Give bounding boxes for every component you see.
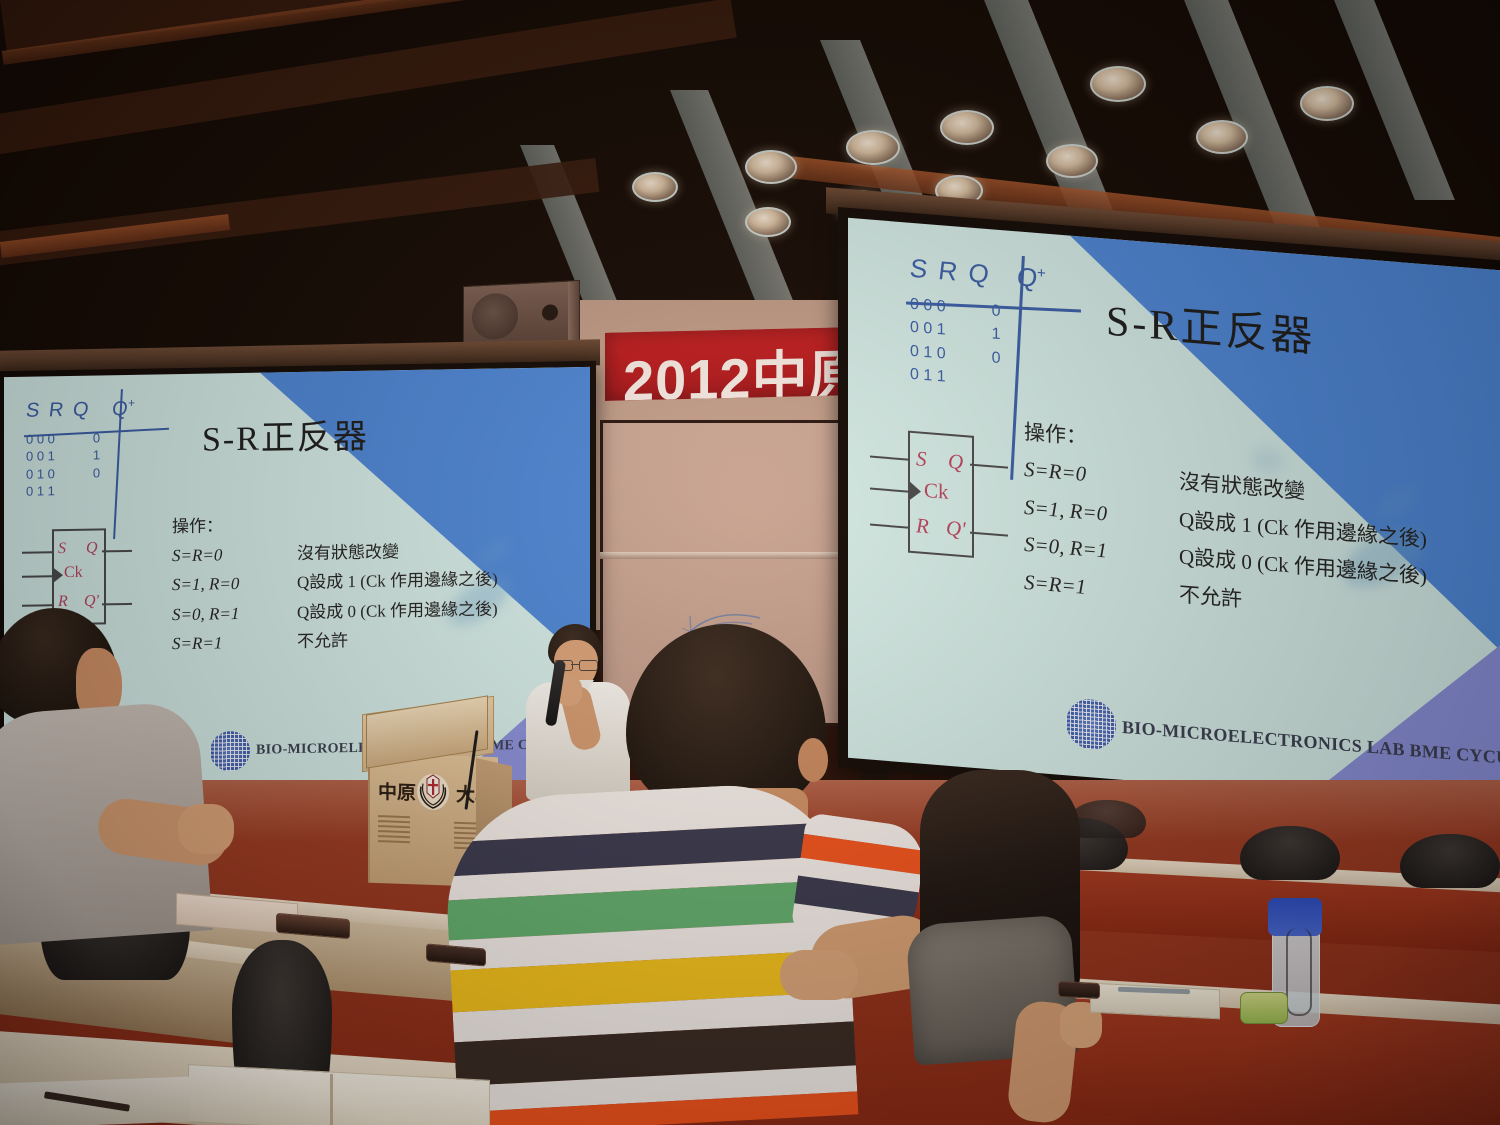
hand-row-in: 0 1 1: [26, 484, 55, 500]
ops-result: 不允許: [1179, 576, 1242, 618]
flipflop-label-q: Q: [948, 449, 963, 475]
event-banner: 2012中原: [605, 327, 855, 401]
downlight: [1046, 144, 1098, 178]
chair: [1400, 834, 1500, 888]
ops-condition: S=R=0: [172, 539, 297, 570]
podium-text-left: 中原: [378, 777, 416, 805]
handwriting-header: S R Q: [25, 399, 92, 421]
ops-result: Q設成 1 (Ck 作用邊緣之後): [297, 565, 498, 598]
flipflop-wire-ck: [870, 488, 908, 493]
flipflop-wire-r: [870, 524, 908, 529]
student-hand: [178, 804, 234, 854]
hand-row-out: 0: [992, 349, 1001, 367]
flipflop-wire-qn: [970, 532, 1008, 537]
hand-row-in: 0 1 0: [910, 342, 946, 362]
hand-row-in: 0 0 1: [910, 319, 946, 339]
handwriting-header-out: Q: [1015, 263, 1039, 292]
downlight: [1196, 120, 1248, 154]
downlight: [1090, 66, 1146, 102]
flipflop-label-ck: Ck: [64, 564, 83, 582]
hand-row-in: 0 1 1: [910, 366, 946, 386]
flipflop-wire-s: [22, 551, 52, 554]
flipflop-wire-ck: [22, 575, 52, 578]
event-banner-text: 2012中原: [623, 331, 855, 401]
slide-operations: 操作： S=R=0沒有狀態改變 S=1, R=0Q設成 1 (Ck 作用邊緣之後…: [1024, 414, 1427, 633]
chair: [1240, 826, 1340, 880]
downlight: [745, 207, 791, 237]
handwriting-header-sup: +: [128, 396, 135, 410]
handwriting-header: S R Q: [908, 255, 992, 289]
lecture-hall-photo: 2012中原 S R QQ+ 0 0 00 0 0 11 0 1 00 0 1 …: [0, 0, 1500, 1125]
handwritten-truth-table: S R QQ+ 0 0 00 0 0 11 0 1 00 0 1 1: [910, 255, 1046, 397]
flipflop-wire-s: [870, 456, 908, 461]
ops-condition: S=1, R=0: [172, 568, 297, 599]
speaker-cone-icon: [472, 292, 518, 340]
clock-triangle-icon: [910, 482, 921, 501]
downlight: [745, 150, 797, 184]
student-right-longhair: [900, 770, 1130, 1125]
clock-triangle-icon: [54, 568, 63, 582]
hand-row-out: 1: [93, 448, 100, 463]
phone-right-desk[interactable]: [1058, 981, 1100, 999]
student-ear: [798, 738, 828, 782]
hand-row-out: 1: [992, 326, 1001, 344]
flipflop-label-q: Q: [86, 539, 98, 557]
flipflop-wire-qn: [102, 603, 132, 606]
whiteboard-tray: [600, 552, 870, 559]
downlight: [940, 110, 994, 145]
ops-result: 不允許: [297, 626, 348, 656]
flipflop-wire-q: [102, 550, 132, 553]
globe-logo-icon: [1066, 697, 1116, 751]
bottle-strap: [1286, 928, 1312, 1016]
student-hand: [780, 950, 858, 1000]
flipflop-label-r: R: [916, 513, 929, 539]
pencil-pouch[interactable]: [1240, 992, 1288, 1024]
flipflop-label-ck: Ck: [924, 478, 949, 505]
podium-vent-left: [378, 815, 410, 846]
flipflop-label-s: S: [58, 540, 66, 558]
downlight: [846, 130, 900, 165]
hand-row-in: 0 1 0: [26, 466, 55, 482]
speaker-bracket: [568, 281, 579, 344]
speaker-tweeter-icon: [542, 304, 558, 321]
flipflop-label-s: S: [916, 446, 927, 472]
slide-title: S-R正反器: [202, 409, 369, 461]
student-striped-shirt: [430, 620, 950, 1125]
hand-row-in: 0 0 1: [26, 448, 55, 464]
student-left-grey: [0, 608, 230, 938]
downlight: [632, 172, 678, 202]
flipflop-label-qn: Q': [946, 516, 966, 543]
ops-result: 沒有狀態改變: [297, 537, 399, 568]
flipflop-wire-r: [22, 604, 52, 607]
flipflop-wire-q: [970, 464, 1008, 469]
notebook-spine: [330, 1074, 333, 1125]
hand-row-out: 0: [93, 465, 100, 480]
hand-row-in: 0 0 0: [910, 296, 946, 316]
downlight: [1300, 86, 1354, 121]
